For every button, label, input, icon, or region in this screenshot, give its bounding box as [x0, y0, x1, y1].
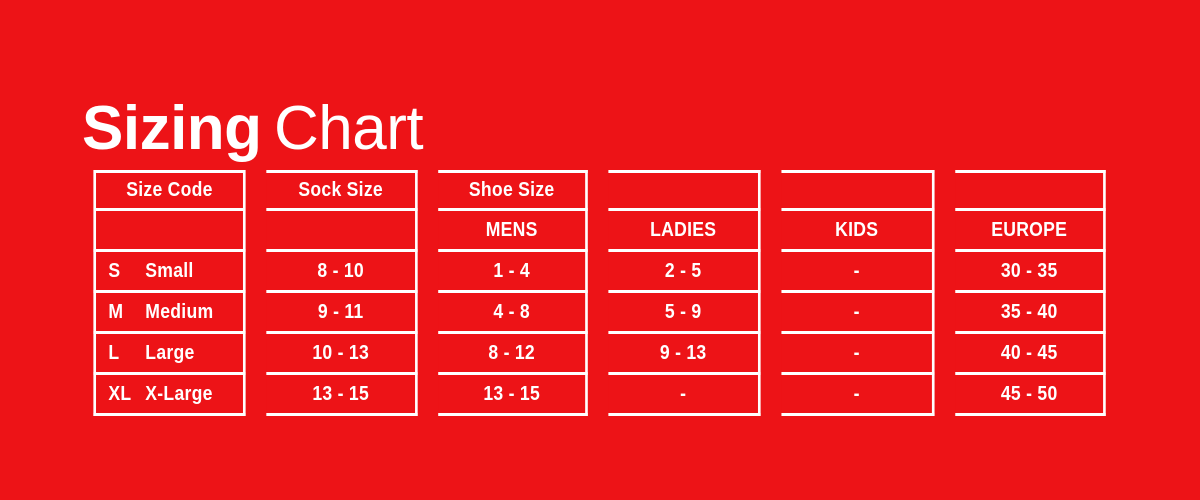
size-code-letter: XL: [108, 383, 145, 406]
sizing-table: Size Code Sock Size Shoe Size MENS LADIE…: [83, 170, 1116, 416]
size-code-name: X-Large: [145, 383, 212, 406]
subheader-mens: MENS: [438, 211, 588, 252]
header-blank-2: [781, 170, 934, 211]
cell-mens: 8 - 12: [438, 334, 588, 375]
cell-size-code: MMedium: [93, 293, 245, 334]
cell-size-code: SSmall: [93, 252, 245, 293]
table-header-row-2: MENS LADIES KIDS EUROPE: [83, 211, 1116, 252]
header-shoe-size: Shoe Size: [438, 170, 588, 211]
cell-europe: 45 - 50: [955, 375, 1105, 416]
cell-ladies: 2 - 5: [608, 252, 760, 293]
cell-kids: -: [781, 375, 934, 416]
subheader-blank-1: [93, 211, 245, 252]
size-code-letter: L: [108, 342, 145, 365]
page-title: SizingChart: [82, 89, 1122, 169]
cell-europe: 35 - 40: [955, 293, 1105, 334]
subheader-ladies: LADIES: [608, 211, 760, 252]
page-title-light: Chart: [274, 94, 423, 163]
cell-europe: 40 - 45: [955, 334, 1105, 375]
cell-sock-size: 9 - 11: [266, 293, 417, 334]
cell-mens: 1 - 4: [438, 252, 588, 293]
header-size-code: Size Code: [93, 170, 245, 211]
cell-size-code: LLarge: [93, 334, 245, 375]
cell-sock-size: 8 - 10: [266, 252, 417, 293]
header-blank-3: [955, 170, 1105, 211]
header-sock-size: Sock Size: [266, 170, 417, 211]
cell-size-code: XLX-Large: [93, 375, 245, 416]
cell-ladies: 9 - 13: [608, 334, 760, 375]
page-title-bold: Sizing: [82, 94, 262, 163]
table-row: LLarge 10 - 13 8 - 12 9 - 13 - 40 - 45: [83, 334, 1116, 375]
cell-mens: 13 - 15: [438, 375, 588, 416]
header-blank-1: [608, 170, 760, 211]
cell-ladies: -: [608, 375, 760, 416]
subheader-kids: KIDS: [781, 211, 934, 252]
table-row: MMedium 9 - 11 4 - 8 5 - 9 - 35 - 40: [83, 293, 1116, 334]
cell-sock-size: 13 - 15: [266, 375, 417, 416]
cell-mens: 4 - 8: [438, 293, 588, 334]
table-row: SSmall 8 - 10 1 - 4 2 - 5 - 30 - 35: [83, 252, 1116, 293]
size-code-letter: S: [108, 260, 145, 283]
size-code-name: Large: [145, 342, 194, 365]
cell-ladies: 5 - 9: [608, 293, 760, 334]
sizing-chart-page: SizingChart Size Code Sock Size Shoe Siz…: [0, 0, 1200, 500]
size-code-name: Small: [145, 260, 193, 283]
cell-europe: 30 - 35: [955, 252, 1105, 293]
cell-kids: -: [781, 252, 934, 293]
table-header-row-1: Size Code Sock Size Shoe Size: [83, 170, 1116, 211]
cell-kids: -: [781, 334, 934, 375]
cell-sock-size: 10 - 13: [266, 334, 417, 375]
subheader-europe: EUROPE: [955, 211, 1105, 252]
cell-kids: -: [781, 293, 934, 334]
size-code-letter: M: [108, 301, 145, 324]
table-row: XLX-Large 13 - 15 13 - 15 - - 45 - 50: [83, 375, 1116, 416]
subheader-blank-2: [266, 211, 417, 252]
size-code-name: Medium: [145, 301, 213, 324]
